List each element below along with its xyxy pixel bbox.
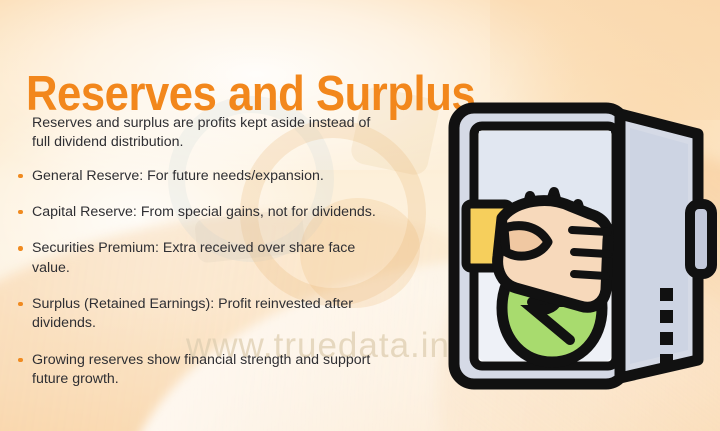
keypad-dot — [660, 288, 673, 301]
list-item-label: General Reserve: For future needs/expans… — [32, 168, 324, 184]
bullet-dot-icon — [18, 358, 23, 363]
keypad-dot — [660, 332, 673, 345]
list-item-label: Growing reserves show financial strength… — [32, 352, 370, 387]
list-item-label: Securities Premium: Extra received over … — [32, 240, 355, 275]
list-item: General Reserve: For future needs/expans… — [18, 167, 384, 186]
list-item-label: Surplus (Retained Earnings): Profit rein… — [32, 296, 353, 331]
safe-door-panel — [630, 128, 688, 364]
bullet-dot-icon — [18, 246, 23, 251]
slide-canvas: www.truedata.in Reserves and Surplus Res… — [0, 0, 720, 431]
keypad-dot — [660, 354, 673, 367]
bullet-dot-icon — [18, 302, 23, 307]
list-item: Growing reserves show financial strength… — [18, 351, 384, 390]
safe-illustration — [444, 100, 720, 392]
list-item: Securities Premium: Extra received over … — [18, 239, 384, 278]
keypad-dot — [660, 310, 673, 323]
list-item: Surplus (Retained Earnings): Profit rein… — [18, 295, 384, 334]
hand-grip — [498, 201, 609, 308]
list-item-label: Capital Reserve: From special gains, not… — [32, 204, 376, 220]
list-item: Capital Reserve: From special gains, not… — [18, 203, 384, 222]
bullet-dot-icon — [18, 174, 23, 179]
bullet-dot-icon — [18, 210, 23, 215]
hand-thumb — [504, 226, 548, 256]
safe-door-handle[interactable] — [690, 204, 712, 274]
bullet-list: General Reserve: For future needs/expans… — [0, 167, 420, 390]
page-title: Reserves and Surplus — [26, 69, 475, 120]
intro-paragraph: Reserves and surplus are profits kept as… — [32, 114, 378, 153]
content-block: Reserves and surplus are profits kept as… — [0, 114, 420, 406]
